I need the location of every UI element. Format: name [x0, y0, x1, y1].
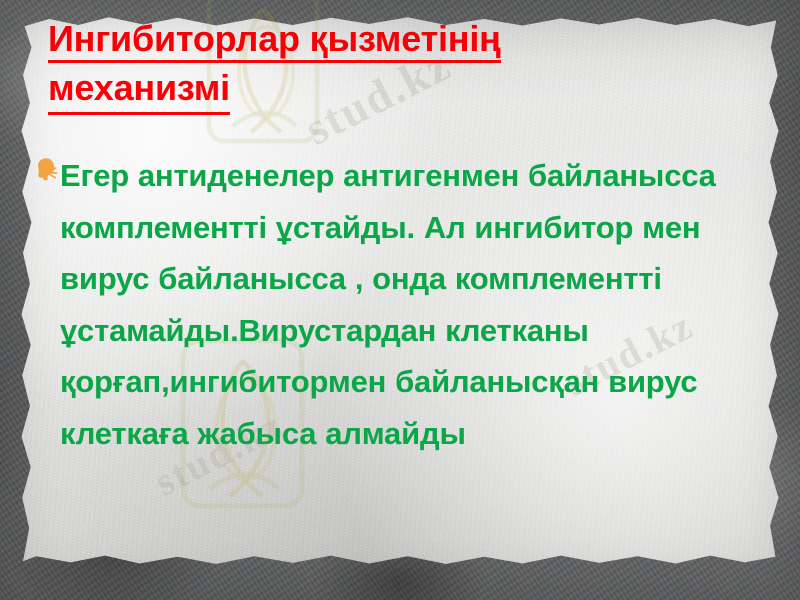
- slide-body-text: Егер антиденелер антигенмен байланысса к…: [60, 150, 753, 464]
- slide-content: Ингибиторлар қызметінің механизмі Егер а…: [0, 0, 800, 600]
- slide-title-line-2: механизмі: [48, 65, 230, 115]
- speaking-head-icon: [33, 154, 63, 184]
- slide-body-text-main: Егер антиденелер антигенмен байланысса к…: [60, 158, 716, 451]
- slide-body-bullet-item: Егер антиденелер антигенмен байланысса к…: [33, 150, 753, 464]
- slide-body-terminal-dot: .: [466, 429, 471, 448]
- slide-title: Ингибиторлар қызметінің механизмі: [48, 16, 688, 115]
- slide-title-line-1: Ингибиторлар қызметінің: [48, 18, 501, 63]
- presentation-slide: stud.kz stud.kz stud.kz Ингибиторлар қыз…: [0, 0, 800, 600]
